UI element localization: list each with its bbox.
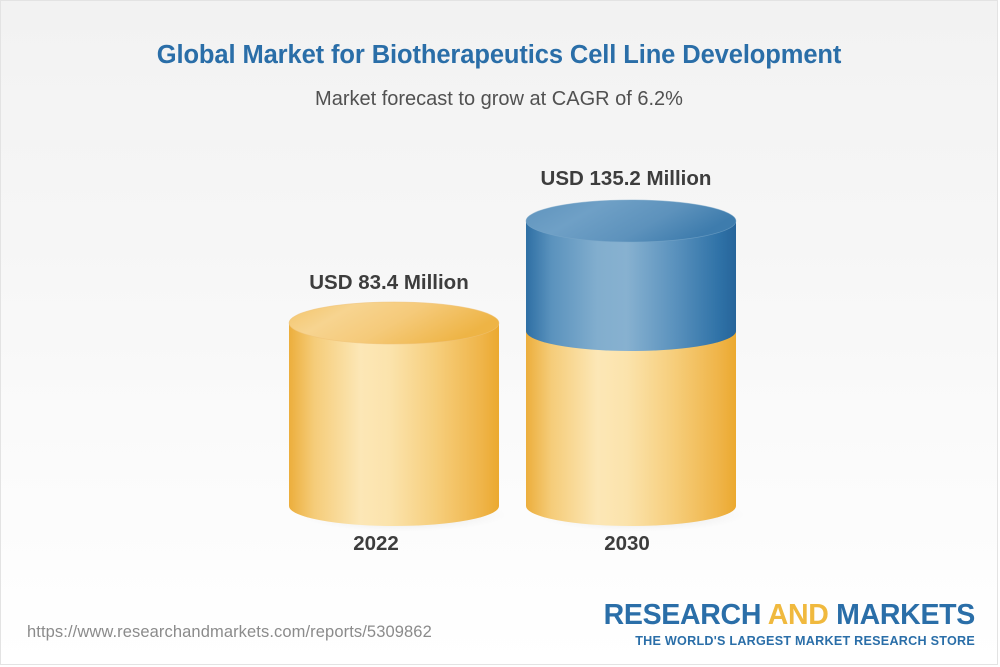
- logo-word-and: AND: [768, 599, 829, 631]
- logo-word-markets: MARKETS: [836, 599, 975, 631]
- plot-area: USD 83.4 Million: [1, 1, 998, 601]
- logo-word-research: RESEARCH: [604, 599, 762, 631]
- bar-cylinder-2030[interactable]: [516, 197, 748, 537]
- value-label-2022: USD 83.4 Million: [229, 271, 549, 295]
- logo-tagline: THE WORLD'S LARGEST MARKET RESEARCH STOR…: [604, 635, 975, 648]
- research-and-markets-logo[interactable]: RESEARCH AND MARKETS THE WORLD'S LARGEST…: [604, 601, 975, 647]
- category-label-2030: 2030: [467, 532, 787, 556]
- logo-wordmark: RESEARCH AND MARKETS: [604, 601, 975, 630]
- source-url[interactable]: https://www.researchandmarkets.com/repor…: [27, 623, 432, 642]
- value-label-2030: USD 135.2 Million: [466, 167, 786, 191]
- bar-segment-base-2030: [526, 331, 736, 526]
- chart-canvas: Global Market for Biotherapeutics Cell L…: [0, 0, 998, 665]
- bar-cylinder-2022[interactable]: [279, 301, 509, 536]
